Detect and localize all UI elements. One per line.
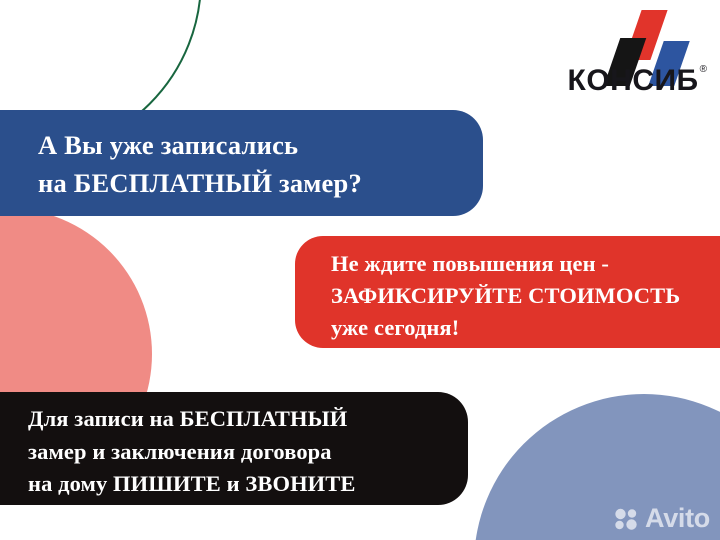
logo-mark [526,8,706,64]
avito-wordmark: Avito [645,505,710,532]
black-banner-line-3: на дому ПИШИТЕ и ЗВОНИТЕ [28,468,468,501]
konsib-logo: КОНСИБ® [526,8,706,106]
red-banner-line-2: ЗАФИКСИРУЙТЕ СТОИМОСТЬ [331,280,720,312]
red-banner-line-1: Не ждите повышения цен - [331,248,720,280]
avito-dots-icon [614,508,640,530]
avito-watermark: Avito [614,505,710,532]
red-offer-banner: Не ждите повышения цен - ЗАФИКСИРУЙТЕ СТ… [295,236,720,348]
blue-banner-line-1: А Вы уже записались [38,126,483,164]
black-cta-banner: Для записи на БЕСПЛАТНЫЙ замер и заключе… [0,392,468,505]
ad-banner-canvas: КОНСИБ® А Вы уже записались на БЕСПЛАТНЫ… [0,0,720,540]
blue-headline-banner: А Вы уже записались на БЕСПЛАТНЫЙ замер? [0,110,483,216]
registered-trademark-icon: ® [700,64,707,75]
logo-wordmark: КОНСИБ® [526,66,706,96]
blue-banner-line-2: на БЕСПЛАТНЫЙ замер? [38,164,483,202]
red-banner-line-3: уже сегодня! [331,312,720,344]
black-banner-line-1: Для записи на БЕСПЛАТНЫЙ [28,403,468,436]
logo-brand-name: КОНСИБ [568,64,699,97]
black-banner-line-2: замер и заключения договора [28,436,468,469]
